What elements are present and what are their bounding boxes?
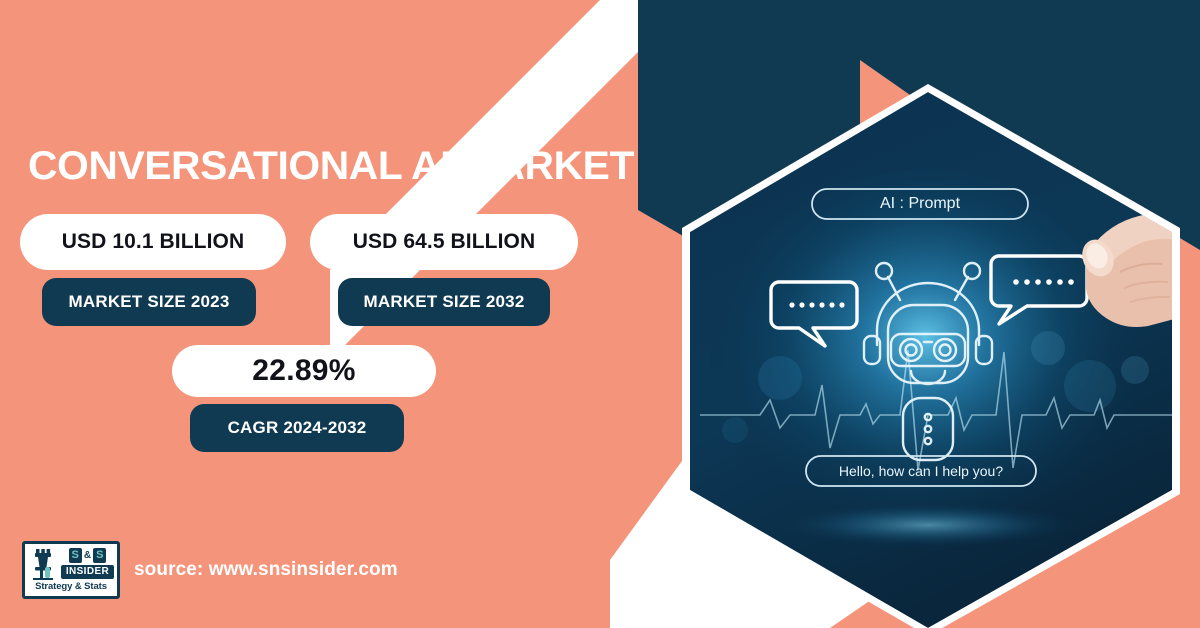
chess-rook-icon bbox=[28, 547, 58, 580]
prompt-pill-label: AI : Prompt bbox=[812, 189, 1028, 219]
market-size-2032-label: MARKET SIZE 2032 bbox=[338, 278, 550, 326]
cagr-value: 22.89% bbox=[172, 345, 436, 397]
logo-letter-s1: S bbox=[69, 548, 82, 563]
market-size-2032-value: USD 64.5 BILLION bbox=[310, 214, 578, 270]
infographic-canvas: AI : Prompt Hello, how can I help you? C… bbox=[0, 0, 1200, 628]
cagr-label: CAGR 2024-2032 bbox=[190, 404, 404, 452]
greeting-pill-label: Hello, how can I help you? bbox=[806, 456, 1036, 486]
left-content-column: CONVERSATIONAL AI MARKET USD 10.1 BILLIO… bbox=[0, 0, 640, 628]
market-size-2023-label: MARKET SIZE 2023 bbox=[42, 278, 256, 326]
page-title: CONVERSATIONAL AI MARKET bbox=[28, 145, 640, 187]
source-text: source: www.snsinsider.com bbox=[134, 559, 398, 581]
logo-insider-bar: INSIDER bbox=[61, 565, 114, 579]
logo-tagline: Strategy & Stats bbox=[28, 580, 114, 594]
logo-ampersand: & bbox=[84, 550, 91, 561]
footer: S & S INSIDER Strategy & Stats source: w… bbox=[22, 541, 398, 599]
snsinsider-logo[interactable]: S & S INSIDER Strategy & Stats bbox=[22, 541, 120, 599]
market-size-2023-value: USD 10.1 BILLION bbox=[20, 214, 286, 270]
logo-letter-s2: S bbox=[93, 548, 106, 563]
